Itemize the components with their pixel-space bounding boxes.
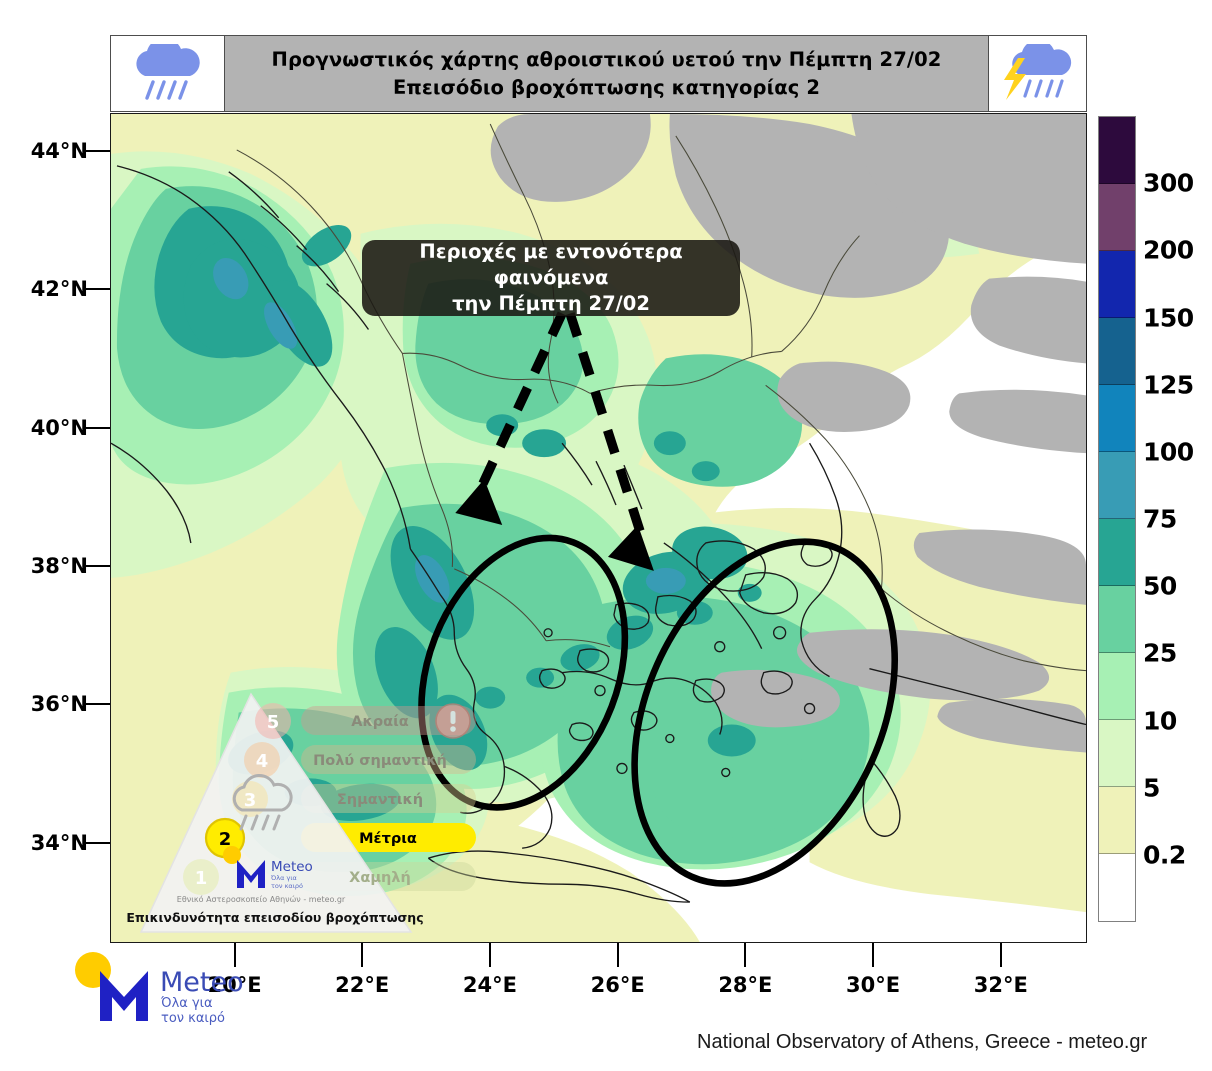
risk-number-4: 4 — [256, 751, 269, 772]
footer-logo-tagline2: τον καιρό — [161, 1011, 225, 1025]
colorbar-label-5: 5 — [1143, 773, 1160, 802]
risk-label-2: Μέτρια — [359, 831, 417, 847]
rain-cloud-icon-box — [111, 36, 225, 111]
colorbar-band-1 — [1099, 184, 1135, 251]
pyramid-logo-tagline1: Όλα για — [270, 874, 297, 882]
colorbar-band-0 — [1099, 117, 1135, 184]
lon-tick-label-32: 32°E — [974, 973, 1028, 997]
lon-tick-mark — [872, 943, 874, 967]
annotation-line2: την Πέμπτη 27/02 — [452, 291, 650, 317]
lon-tick-mark — [489, 943, 491, 967]
risk-pyramid-svg: 5 4 3 2 1 Ακραία Πολύ σημαντική Σημαντικ… — [115, 688, 535, 938]
lat-tick-mark — [84, 842, 110, 844]
lat-tick-label-42: 42°N — [22, 277, 88, 301]
colorbar-band-10 — [1099, 787, 1135, 854]
colorbar-label-125: 125 — [1143, 370, 1194, 399]
risk-label-4: Πολύ σημαντική — [313, 753, 447, 769]
lat-tick-label-44: 44°N — [22, 139, 88, 163]
colorbar-label-150: 150 — [1143, 303, 1194, 332]
thunderstorm-cloud-icon — [998, 44, 1078, 104]
annotation-line1: Περιοχές με εντονότερα φαινόμενα — [362, 239, 740, 291]
lon-tick-mark — [617, 943, 619, 967]
risk-number-3: 3 — [244, 790, 257, 811]
lat-tick-mark — [84, 565, 110, 567]
exclamation-circle-icon — [436, 704, 470, 738]
colorbar-label-50: 50 — [1143, 572, 1177, 601]
colorbar-label-200: 200 — [1143, 236, 1194, 265]
header-title: Προγνωστικός χάρτης αθροιστικού υετού τη… — [225, 36, 988, 111]
annotation-callout: Περιοχές με εντονότερα φαινόμενα την Πέμ… — [362, 240, 740, 316]
lon-tick-label-22: 22°E — [335, 973, 389, 997]
colorbar-label-10: 10 — [1143, 706, 1177, 735]
colorbar-band-8 — [1099, 653, 1135, 720]
lon-tick-mark — [744, 943, 746, 967]
colorbar-label-100: 100 — [1143, 437, 1194, 466]
precipitation-colorbar[interactable] — [1098, 116, 1136, 922]
risk-pyramid-legend: 5 4 3 2 1 Ακραία Πολύ σημαντική Σημαντικ… — [115, 688, 535, 938]
rain-cloud-icon — [125, 44, 211, 104]
colorbar-band-2 — [1099, 251, 1135, 318]
pyramid-caption: Επικινδυνότητα επεισοδίου βροχόπτωσης — [126, 910, 423, 925]
colorbar-label-300: 300 — [1143, 169, 1194, 198]
lon-tick-mark — [1000, 943, 1002, 967]
meteo-logo-svg: Meteo Όλα για τον καιρό — [68, 949, 278, 1025]
lon-tick-label-26: 26°E — [591, 973, 645, 997]
lon-tick-mark — [361, 943, 363, 967]
lon-tick-label-24: 24°E — [463, 973, 517, 997]
header-title-line2: Επεισόδιο βροχόπτωσης κατηγορίας 2 — [393, 74, 820, 102]
colorbar-band-11 — [1099, 854, 1135, 921]
colorbar-label-25: 25 — [1143, 639, 1177, 668]
colorbar-label-0.2: 0.2 — [1143, 840, 1186, 869]
lat-tick-label-38: 38°N — [22, 554, 88, 578]
header-title-line1: Προγνωστικός χάρτης αθροιστικού υετού τη… — [272, 46, 942, 74]
footer-logo-name: Meteo — [160, 967, 244, 998]
risk-number-5: 5 — [267, 712, 280, 733]
pyramid-logo-tagline2: τον καιρό — [271, 882, 303, 890]
lat-tick-label-40: 40°N — [22, 416, 88, 440]
colorbar-band-6 — [1099, 519, 1135, 586]
footer-logo-tagline1: Όλα για — [160, 996, 213, 1011]
lon-tick-label-30: 30°E — [846, 973, 900, 997]
lat-tick-mark — [84, 288, 110, 290]
lat-tick-label-36: 36°N — [22, 692, 88, 716]
colorbar-label-75: 75 — [1143, 505, 1177, 534]
colorbar-band-7 — [1099, 586, 1135, 653]
colorbar-band-3 — [1099, 318, 1135, 385]
colorbar-band-5 — [1099, 452, 1135, 519]
lat-tick-mark — [84, 150, 110, 152]
risk-label-1: Χαμηλή — [349, 870, 411, 886]
attribution-text: National Observatory of Athens, Greece -… — [697, 1031, 1147, 1054]
colorbar-band-9 — [1099, 720, 1135, 787]
colorbar-band-4 — [1099, 385, 1135, 452]
lat-tick-mark — [84, 427, 110, 429]
pyramid-source: Εθνικό Αστεροσκοπείο Αθηνών - meteo.gr — [177, 894, 346, 904]
risk-number-1: 1 — [195, 868, 208, 889]
lat-tick-label-34: 34°N — [22, 831, 88, 855]
lat-tick-mark — [84, 703, 110, 705]
lon-tick-label-28: 28°E — [718, 973, 772, 997]
header-banner: Προγνωστικός χάρτης αθροιστικού υετού τη… — [110, 35, 1087, 112]
risk-label-5: Ακραία — [351, 714, 409, 730]
pyramid-logo-name: Meteo — [271, 859, 313, 875]
thunderstorm-cloud-icon-box — [988, 36, 1086, 111]
meteo-logo-footer: Meteo Όλα για τον καιρό — [68, 949, 278, 1025]
risk-label-3: Σημαντική — [337, 792, 423, 808]
